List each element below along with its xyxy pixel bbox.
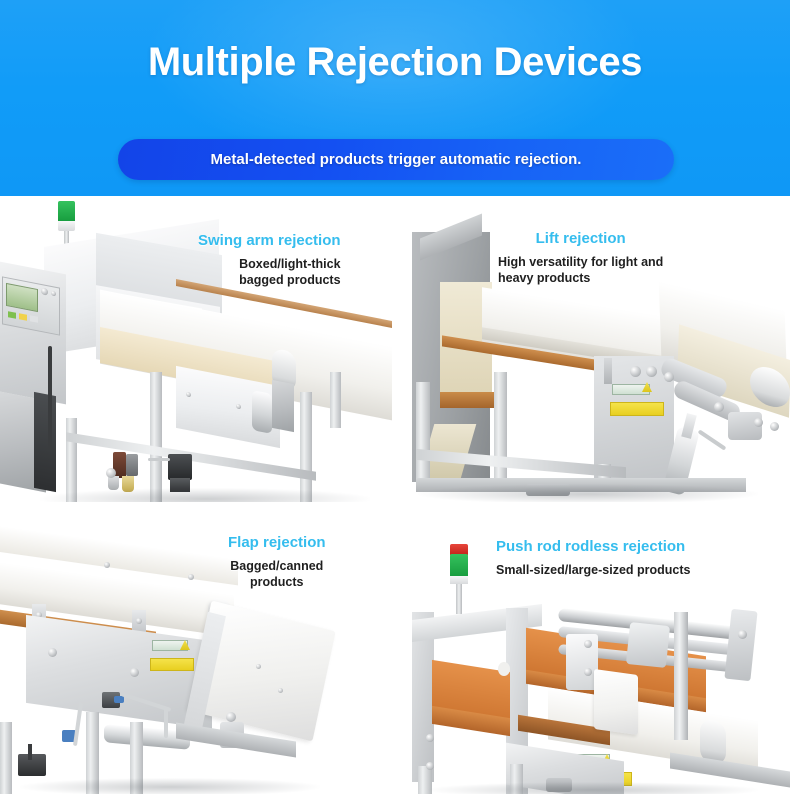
- caption-title: Swing arm rejection: [198, 232, 341, 249]
- stack-light-green: [450, 554, 468, 578]
- caption-swing-arm: Swing arm rejection Boxed/light-thick ba…: [198, 232, 341, 288]
- linkage-bolt: [664, 372, 674, 382]
- caption-subtitle: High versatility for light and heavy pro…: [498, 255, 663, 286]
- machine-shadow: [418, 484, 758, 502]
- air-cylinder: [252, 390, 272, 434]
- bracket-bolt: [770, 422, 779, 431]
- caption-subtitle-line2: heavy products: [498, 271, 663, 287]
- rail-end-bracket: [724, 609, 757, 681]
- rodless-carriage: [626, 622, 670, 668]
- plate-bolt: [186, 392, 191, 398]
- valve-cable: [28, 744, 32, 760]
- warning-label: [610, 402, 664, 416]
- stack-light-green: [58, 201, 75, 223]
- caption-title: Push rod rodless rejection: [496, 538, 691, 555]
- panel-flap: Flap rejection Bagged/canned products: [0, 516, 392, 794]
- caption-title: Lift rejection: [498, 230, 663, 247]
- bracket-bolt: [754, 418, 763, 427]
- pivot-bolt: [630, 366, 641, 377]
- flap-bolt: [256, 664, 261, 669]
- swing-arm-bracket: [272, 380, 294, 432]
- caption-subtitle: Small-sized/large-sized products: [496, 563, 691, 579]
- caption-subtitle-line1: Boxed/light-thick: [198, 257, 341, 273]
- frame-leg: [330, 372, 341, 428]
- panel-push-rod: Push rod rodless rejection Small-sized/l…: [398, 516, 790, 794]
- caption-subtitle-line1: Small-sized/large-sized products: [496, 563, 691, 579]
- panel-lift: Lift rejection High versatility for ligh…: [398, 196, 790, 502]
- solenoid-valve: [168, 454, 192, 480]
- linkage-bolt: [714, 402, 724, 412]
- frame-leg: [150, 372, 162, 502]
- motor-housing: [34, 392, 56, 492]
- belt-tracking-dot: [498, 662, 510, 676]
- frame-rib: [604, 358, 612, 384]
- subtitle-pill: Metal-detected products trigger automati…: [118, 139, 674, 180]
- caption-subtitle-line1: High versatility for light and: [498, 255, 663, 271]
- plate-bolt: [48, 648, 57, 657]
- support-post: [674, 612, 688, 740]
- caption-subtitle-line2: bagged products: [198, 273, 341, 289]
- warning-label: [150, 658, 194, 671]
- caption-flap: Flap rejection Bagged/canned products: [228, 534, 326, 590]
- air-hose: [164, 708, 168, 738]
- caption-lift: Lift rejection High versatility for ligh…: [498, 230, 663, 286]
- pusher-bolt: [584, 640, 592, 648]
- frame-side-plate: [26, 615, 212, 729]
- page-title: Multiple Rejection Devices: [0, 40, 790, 85]
- plate-bolt: [236, 404, 241, 410]
- air-hose: [148, 458, 170, 461]
- photo-flap: [0, 516, 392, 794]
- power-cable: [48, 346, 52, 450]
- pusher-bolt: [584, 668, 592, 676]
- flap-bolt: [278, 688, 283, 693]
- pusher-paddle: [594, 669, 638, 735]
- machine-shadow: [428, 782, 758, 794]
- caption-title: Flap rejection: [228, 534, 326, 551]
- frame-leg: [416, 382, 430, 482]
- caption-subtitle: Boxed/light-thick bagged products: [198, 257, 341, 288]
- clevis-pin: [226, 712, 236, 722]
- caption-subtitle-line1: Bagged/canned: [228, 559, 326, 575]
- aperture-belt-edge: [440, 392, 494, 408]
- caption-subtitle-line2: products: [228, 575, 326, 591]
- machine-shadow: [40, 488, 370, 502]
- solenoid-valve: [18, 754, 46, 776]
- plate-bolt: [130, 668, 139, 677]
- machine-shadow: [20, 778, 320, 794]
- bracket-bolt: [136, 618, 142, 624]
- bracket-bolt: [738, 630, 747, 639]
- air-filter-body: [126, 454, 138, 476]
- subtitle-pill-text: Metal-detected products trigger automati…: [118, 139, 674, 180]
- control-button: [51, 291, 56, 297]
- status-led-off: [30, 315, 38, 323]
- rail-bolt: [104, 562, 110, 568]
- stack-light-base: [450, 576, 468, 584]
- frame-leg: [0, 722, 12, 794]
- rail-bolt: [188, 574, 194, 580]
- push-fitting: [114, 696, 124, 703]
- pivot-bolt: [646, 366, 657, 377]
- photo-grid: Swing arm rejection Boxed/light-thick ba…: [0, 196, 790, 794]
- stack-light-white: [58, 221, 75, 231]
- frame-bolt: [426, 734, 434, 742]
- status-led-green: [8, 311, 16, 319]
- panel-swing-arm: Swing arm rejection Boxed/light-thick ba…: [0, 196, 392, 502]
- frame-leg: [300, 392, 312, 502]
- status-led-amber: [19, 313, 27, 321]
- product-feature-image: Multiple Rejection Devices Metal-detecte…: [0, 0, 790, 794]
- caption-push-rod: Push rod rodless rejection Small-sized/l…: [496, 538, 691, 579]
- header-banner: Multiple Rejection Devices Metal-detecte…: [0, 0, 790, 196]
- frame-bolt: [426, 762, 434, 770]
- caption-subtitle: Bagged/canned products: [228, 559, 326, 590]
- air-hose: [698, 429, 727, 450]
- pressure-gauge: [106, 468, 116, 478]
